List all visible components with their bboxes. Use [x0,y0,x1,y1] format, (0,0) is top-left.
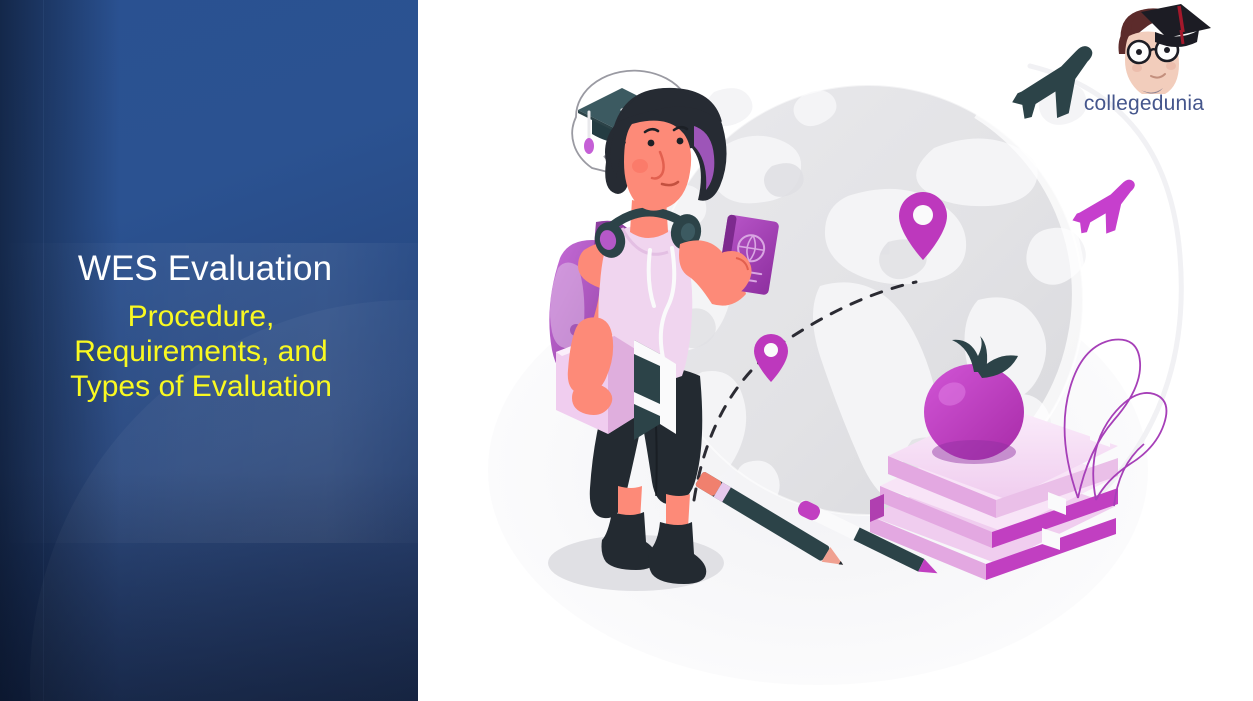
brand-name: collegedunia [1059,92,1229,116]
wes-evaluation-banner: WES Evaluation Procedure, Requirements, … [0,0,1253,701]
illustration-area: collegedunia [418,0,1253,701]
title-panel: WES Evaluation Procedure, Requirements, … [0,0,418,701]
airplane-icon [1066,178,1147,243]
page-title: WES Evaluation [0,247,418,291]
graduate-face-icon [1059,2,1229,94]
headline-block: WES Evaluation Procedure, Requirements, … [0,247,418,404]
page-subtitle: Procedure, Requirements, and Types of Ev… [0,299,418,404]
panel-bottom-shade [0,471,418,701]
brand-logo[interactable]: collegedunia [1059,2,1229,116]
